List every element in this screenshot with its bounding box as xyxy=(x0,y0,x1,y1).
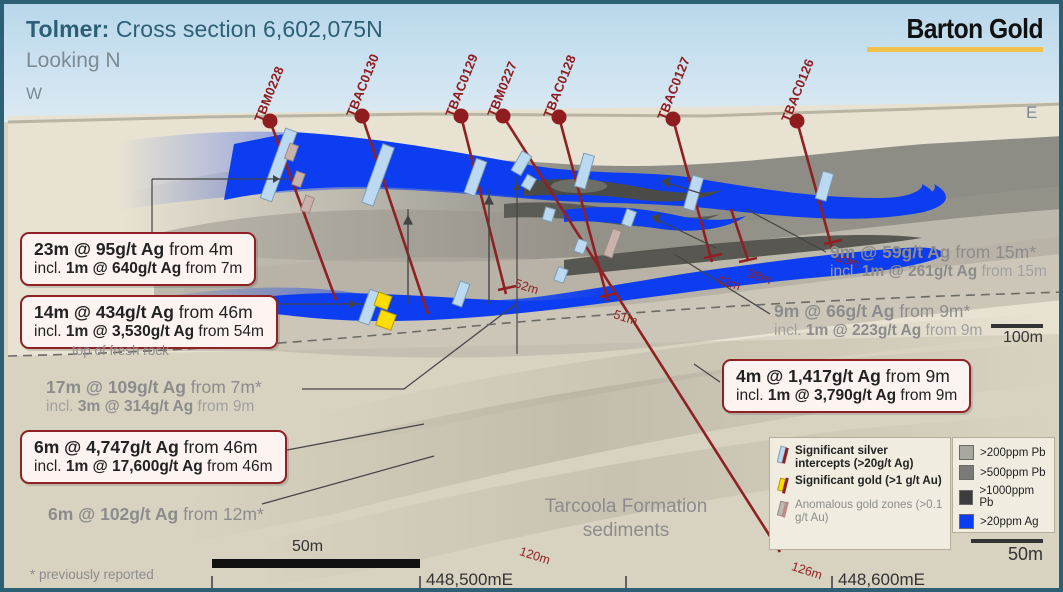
intercept-grade: 23m @ 95g/t Ag xyxy=(34,239,164,259)
intercept-callout-0: 23m @ 95g/t Ag from 4mincl. 1m @ 640g/t … xyxy=(20,232,256,286)
intercept-subgrade: 1m @ 223g/t Ag xyxy=(806,322,921,339)
east-label: E xyxy=(1026,103,1037,123)
depth-scale-100m: 100m xyxy=(991,324,1043,347)
anomalous-gold-icon xyxy=(777,499,790,519)
legend-swatch xyxy=(959,465,974,480)
intercept-grade: 9m @ 59g/t Ag xyxy=(830,242,950,262)
legend-grade-label: >1000ppm Pb xyxy=(979,485,1048,509)
intercept-subgrade: 1m @ 3,530g/t Ag xyxy=(66,323,194,340)
intercept-line2: incl. 1m @ 17,600g/t Ag from 46m xyxy=(34,458,273,476)
intercept-line2: incl. 3m @ 314g/t Ag from 9m xyxy=(46,398,262,417)
intercept-grade: 9m @ 66g/t Ag xyxy=(774,301,894,321)
legend-grade-row-3: >20ppm Ag xyxy=(959,514,1048,529)
intercept-grade: 6m @ 4,747g/t Ag xyxy=(34,437,179,457)
intercept-line1: 14m @ 434g/t Ag from 46m xyxy=(34,302,264,323)
scalebar-right-bar xyxy=(971,539,1043,543)
intercept-subgrade: 1m @ 261g/t Ag xyxy=(862,263,977,280)
intercept-grade: 14m @ 434g/t Ag xyxy=(34,302,174,322)
intercept-line1: 6m @ 102g/t Ag from 12m* xyxy=(48,504,264,525)
legend-symbols: Significant silver intercepts (>20g/t Ag… xyxy=(769,437,951,550)
legend-label-gold: Significant gold (>1 g/t Au) xyxy=(795,474,942,487)
legend-label-anomalous: Anomalous gold zones (>0.1 g/t Au) xyxy=(795,498,943,525)
legend-grade-row-0: >200ppm Pb xyxy=(959,445,1048,460)
legend-grades: >200ppm Pb>500ppm Pb>1000ppm Pb>20ppm Ag xyxy=(952,437,1055,533)
legend-row-silver: Significant silver intercepts (>20g/t Ag… xyxy=(777,444,943,471)
page-title-bold: Tolmer: xyxy=(26,16,109,42)
intercept-callout-2: 17m @ 109g/t Ag from 7m*incl. 3m @ 314g/… xyxy=(46,377,262,417)
intercept-line1: 9m @ 59g/t Ag from 15m* xyxy=(830,242,1047,263)
legend-grade-label: >500ppm Pb xyxy=(980,467,1046,479)
legend-swatch xyxy=(959,514,974,529)
formation-label-line1: Tarcoola Formation xyxy=(516,495,736,519)
silver-intercept-icon xyxy=(777,445,790,465)
intercept-grade: 4m @ 1,417g/t Ag xyxy=(736,366,881,386)
legend-grade-row-2: >1000ppm Pb xyxy=(959,485,1048,509)
legend-grade-label: >200ppm Pb xyxy=(980,447,1046,459)
intercept-callout-1: 14m @ 434g/t Ag from 46mincl. 1m @ 3,530… xyxy=(20,295,278,349)
intercept-subgrade: 3m @ 314g/t Ag xyxy=(78,398,193,415)
legend-row-anomalous: Anomalous gold zones (>0.1 g/t Au) xyxy=(777,498,943,525)
formation-label-line2: sediments xyxy=(516,519,736,543)
west-label: W xyxy=(26,84,42,104)
intercept-line2: incl. 1m @ 3,790g/t Ag from 9m xyxy=(736,387,957,405)
intercept-line1: 9m @ 66g/t Ag from 9m* xyxy=(774,301,982,322)
legend-grade-row-1: >500ppm Pb xyxy=(959,465,1048,480)
intercept-line2: incl. 1m @ 261g/t Ag from 15m xyxy=(830,263,1047,282)
scalebar-right-label: 50m xyxy=(971,544,1043,565)
intercept-line2: incl. 1m @ 3,530g/t Ag from 54m xyxy=(34,323,264,341)
legend-swatch xyxy=(959,490,973,505)
intercept-subgrade: 1m @ 640g/t Ag xyxy=(66,260,181,277)
legend-grade-label: >20ppm Ag xyxy=(980,516,1039,528)
intercept-callout-6: 9m @ 66g/t Ag from 9m*incl. 1m @ 223g/t … xyxy=(774,301,982,341)
intercept-grade: 17m @ 109g/t Ag xyxy=(46,377,186,397)
intercept-callout-5: 9m @ 59g/t Ag from 15m*incl. 1m @ 261g/t… xyxy=(830,242,1047,282)
intercept-line2: incl. 1m @ 223g/t Ag from 9m xyxy=(774,322,982,341)
intercept-callout-7: 4m @ 1,417g/t Ag from 9mincl. 1m @ 3,790… xyxy=(722,359,971,413)
intercept-line1: 6m @ 4,747g/t Ag from 46m xyxy=(34,437,273,458)
formation-label: Tarcoola Formation sediments xyxy=(516,495,736,543)
scalebar-right: 50m xyxy=(971,539,1043,565)
intercept-line1: 23m @ 95g/t Ag from 4m xyxy=(34,239,242,260)
intercept-callout-3: 6m @ 4,747g/t Ag from 46mincl. 1m @ 17,6… xyxy=(20,430,287,484)
view-direction-subtitle: Looking N xyxy=(26,49,121,73)
legend-label-silver: Significant silver intercepts (>20g/t Ag… xyxy=(795,444,943,471)
intercept-grade: 6m @ 102g/t Ag xyxy=(48,504,178,524)
intercept-callout-4: 6m @ 102g/t Ag from 12m* xyxy=(48,504,264,525)
brand-logo: Barton Gold xyxy=(867,13,1043,52)
easting-label-448,500mE: 448,500mE xyxy=(426,570,513,590)
legend-swatch xyxy=(959,445,974,460)
cross-section-figure: Tolmer: Cross section 6,602,075N Looking… xyxy=(0,0,1063,592)
intercept-line1: 4m @ 1,417g/t Ag from 9m xyxy=(736,366,957,387)
brand-accent-bar xyxy=(867,47,1043,52)
scalebar xyxy=(212,559,420,568)
depth-scale-label: 100m xyxy=(991,329,1043,347)
page-title-rest: Cross section 6,602,075N xyxy=(109,16,383,42)
intercept-subgrade: 1m @ 3,790g/t Ag xyxy=(768,387,896,404)
page-title: Tolmer: Cross section 6,602,075N xyxy=(26,16,383,43)
intercept-line1: 17m @ 109g/t Ag from 7m* xyxy=(46,377,262,398)
scalebar-label: 50m xyxy=(292,538,323,556)
footnote: * previously reported xyxy=(30,567,154,582)
intercept-line2: incl. 1m @ 640g/t Ag from 7m xyxy=(34,260,242,278)
legend-row-gold: Significant gold (>1 g/t Au) xyxy=(777,474,943,495)
intercept-subgrade: 1m @ 17,600g/t Ag xyxy=(66,458,203,475)
fresh-rock-label: top of fresh rock xyxy=(72,343,169,358)
depth-scale-bar xyxy=(991,324,1043,328)
brand-name: Barton Gold xyxy=(888,13,1043,45)
gold-intercept-icon xyxy=(777,475,790,495)
easting-label-448,600mE: 448,600mE xyxy=(838,570,925,590)
